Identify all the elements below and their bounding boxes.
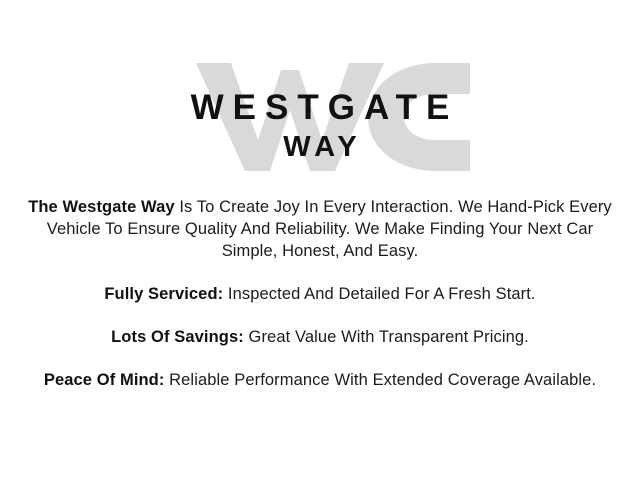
paragraph-fully-serviced: Fully Serviced: Inspected And Detailed F… <box>18 283 622 305</box>
paragraph-body-text: Inspected And Detailed For A Fresh Start… <box>223 285 535 303</box>
paragraph-lots-of-savings: Lots Of Savings: Great Value With Transp… <box>18 326 622 348</box>
paragraph-body-text: Reliable Performance With Extended Cover… <box>164 371 596 389</box>
paragraph-lead-label: Lots Of Savings: <box>111 328 244 346</box>
brand-wordmark: WESTGATE WAY <box>0 0 640 178</box>
brand-logo-lockup: WESTGATE WAY <box>0 0 640 178</box>
paragraph-lead-label: Fully Serviced: <box>104 285 223 303</box>
brand-wordmark-line-1: WESTGATE <box>0 90 640 125</box>
paragraph-mission: The Westgate Way Is To Create Joy In Eve… <box>18 196 622 262</box>
paragraph-lead-label: Peace Of Mind: <box>44 371 165 389</box>
body-copy: The Westgate Way Is To Create Joy In Eve… <box>0 196 640 391</box>
brand-wordmark-line-2: WAY <box>0 133 640 162</box>
westgate-way-info-card: WESTGATE WAY The Westgate Way Is To Crea… <box>0 0 640 480</box>
paragraph-lead-label: The Westgate Way <box>28 198 174 216</box>
paragraph-peace-of-mind: Peace Of Mind: Reliable Performance With… <box>18 369 622 391</box>
paragraph-body-text: Great Value With Transparent Pricing. <box>244 328 529 346</box>
